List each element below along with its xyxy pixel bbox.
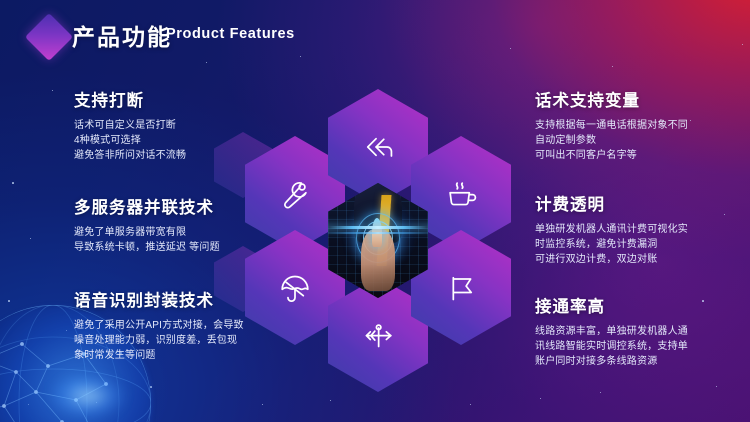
feature-line: 时监控系统，避免计费漏洞 — [535, 237, 740, 252]
feature-line: 线路资源丰富，单独研发机器人通 — [535, 324, 740, 339]
feature-line: 账户同时对接多条线路资源 — [535, 354, 740, 369]
feature-title: 计费透明 — [535, 191, 740, 215]
feature-right-2: 计费透明 单独研发机器人通讯计费可视化实 时监控系统，避免计费漏洞 可进行双边计… — [535, 191, 740, 267]
slide-canvas: 产品功能 Product Features 支持打断 话术可自定义是否打断 4种… — [0, 0, 750, 422]
feature-left-1: 支持打断 话术可自定义是否打断 4种模式可选择 避免答非所问对话不流畅 — [74, 87, 264, 163]
umbrella-icon — [279, 272, 311, 304]
slide-header: 产品功能 Product Features — [0, 0, 750, 70]
feature-body: 支持根据每一通电话根据对象不同 自动定制参数 可叫出不同客户名字等 — [535, 118, 740, 163]
feature-body: 话术可自定义是否打断 4种模式可选择 避免答非所问对话不流畅 — [74, 118, 264, 163]
feature-line: 可进行双边计费，双边对账 — [535, 252, 740, 267]
star-dot — [30, 238, 31, 239]
star-dot — [28, 404, 29, 405]
feature-line: 单独研发机器人通讯计费可视化实 — [535, 222, 740, 237]
star-dot — [470, 404, 471, 405]
star-dot — [262, 404, 263, 405]
globe-halo — [50, 374, 126, 418]
reply-all-arrow-icon — [362, 131, 394, 163]
feature-title: 支持打断 — [74, 87, 264, 111]
flag-icon — [445, 272, 477, 304]
page-title-cn: 产品功能 — [72, 18, 172, 52]
feature-line: 支持根据每一通电话根据对象不同 — [535, 118, 740, 133]
page-title-en: Product Features — [166, 26, 295, 42]
feature-body: 线路资源丰富，单独研发机器人通 讯线路智能实时调控系统，支持单 账户同时对接多条… — [535, 324, 740, 369]
feature-title: 接通率高 — [535, 293, 740, 317]
feature-right-1: 话术支持变量 支持根据每一通电话根据对象不同 自动定制参数 可叫出不同客户名字等 — [535, 87, 740, 163]
feature-line: 4种模式可选择 — [74, 133, 264, 148]
star-dot — [12, 182, 14, 184]
star-dot — [66, 330, 67, 331]
star-dot — [150, 386, 152, 388]
feature-line: 避免答非所问对话不流畅 — [74, 148, 264, 163]
feature-right-3: 接通率高 线路资源丰富，单独研发机器人通 讯线路智能实时调控系统，支持单 账户同… — [535, 293, 740, 369]
wrench-icon — [279, 178, 311, 210]
star-dot — [600, 392, 601, 393]
star-dot — [52, 90, 53, 91]
star-dot — [540, 398, 541, 399]
star-dot — [716, 386, 717, 387]
coffee-cup-icon — [445, 178, 477, 210]
feature-line: 讯线路智能实时调控系统，支持单 — [535, 339, 740, 354]
compass-arrow-icon — [362, 319, 394, 351]
star-dot — [330, 400, 331, 401]
star-dot — [8, 300, 10, 302]
feature-line: 可叫出不同客户名字等 — [535, 148, 740, 163]
star-dot — [96, 402, 97, 403]
feature-title: 话术支持变量 — [535, 87, 740, 111]
diamond-logo-icon — [25, 13, 73, 61]
feature-body: 单独研发机器人通讯计费可视化实 时监控系统，避免计费漏洞 可进行双边计费，双边对… — [535, 222, 740, 267]
feature-line: 话术可自定义是否打断 — [74, 118, 264, 133]
hexagon-cluster — [243, 92, 513, 360]
feature-line: 自动定制参数 — [535, 133, 740, 148]
